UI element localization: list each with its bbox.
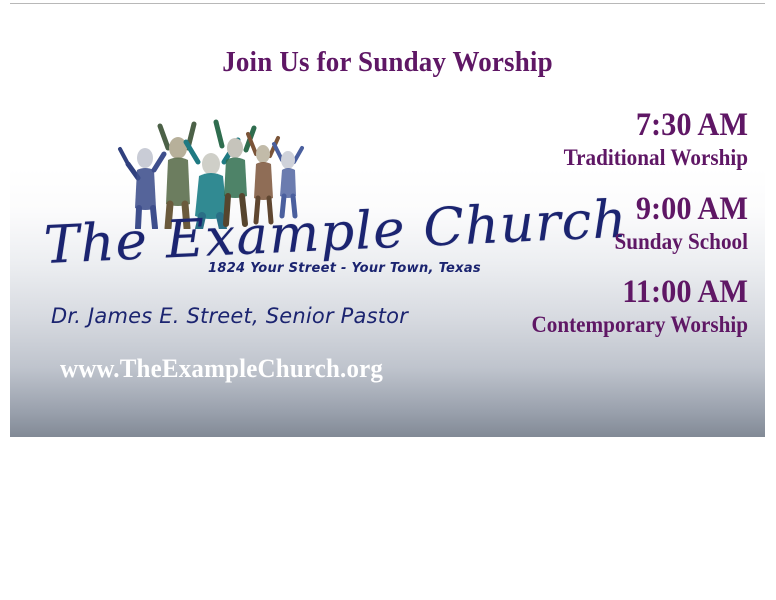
list-item: 11:00 AM Contemporary Worship — [408, 274, 748, 340]
senior-pastor-name: Dr. James E. Street, Senior Pastor — [51, 304, 408, 328]
page-title: Join Us for Sunday Worship — [36, 46, 738, 79]
service-name: Contemporary Worship — [435, 311, 748, 340]
service-time: 7:30 AM — [435, 107, 748, 144]
service-name: Traditional Worship — [435, 144, 748, 173]
list-item: 7:30 AM Traditional Worship — [408, 107, 748, 173]
service-schedule-list: 7:30 AM Traditional Worship 9:00 AM Sund… — [408, 107, 748, 340]
list-item: 9:00 AM Sunday School — [408, 191, 748, 257]
service-time: 11:00 AM — [435, 274, 748, 311]
church-worship-banner: Join Us for Sunday Worship — [10, 3, 765, 437]
service-time: 9:00 AM — [435, 191, 748, 228]
service-name: Sunday School — [435, 228, 748, 257]
church-website[interactable]: www.TheExampleChurch.org — [60, 354, 383, 384]
church-identity-block: The Example Church 1824 Your Street - Yo… — [10, 99, 460, 419]
